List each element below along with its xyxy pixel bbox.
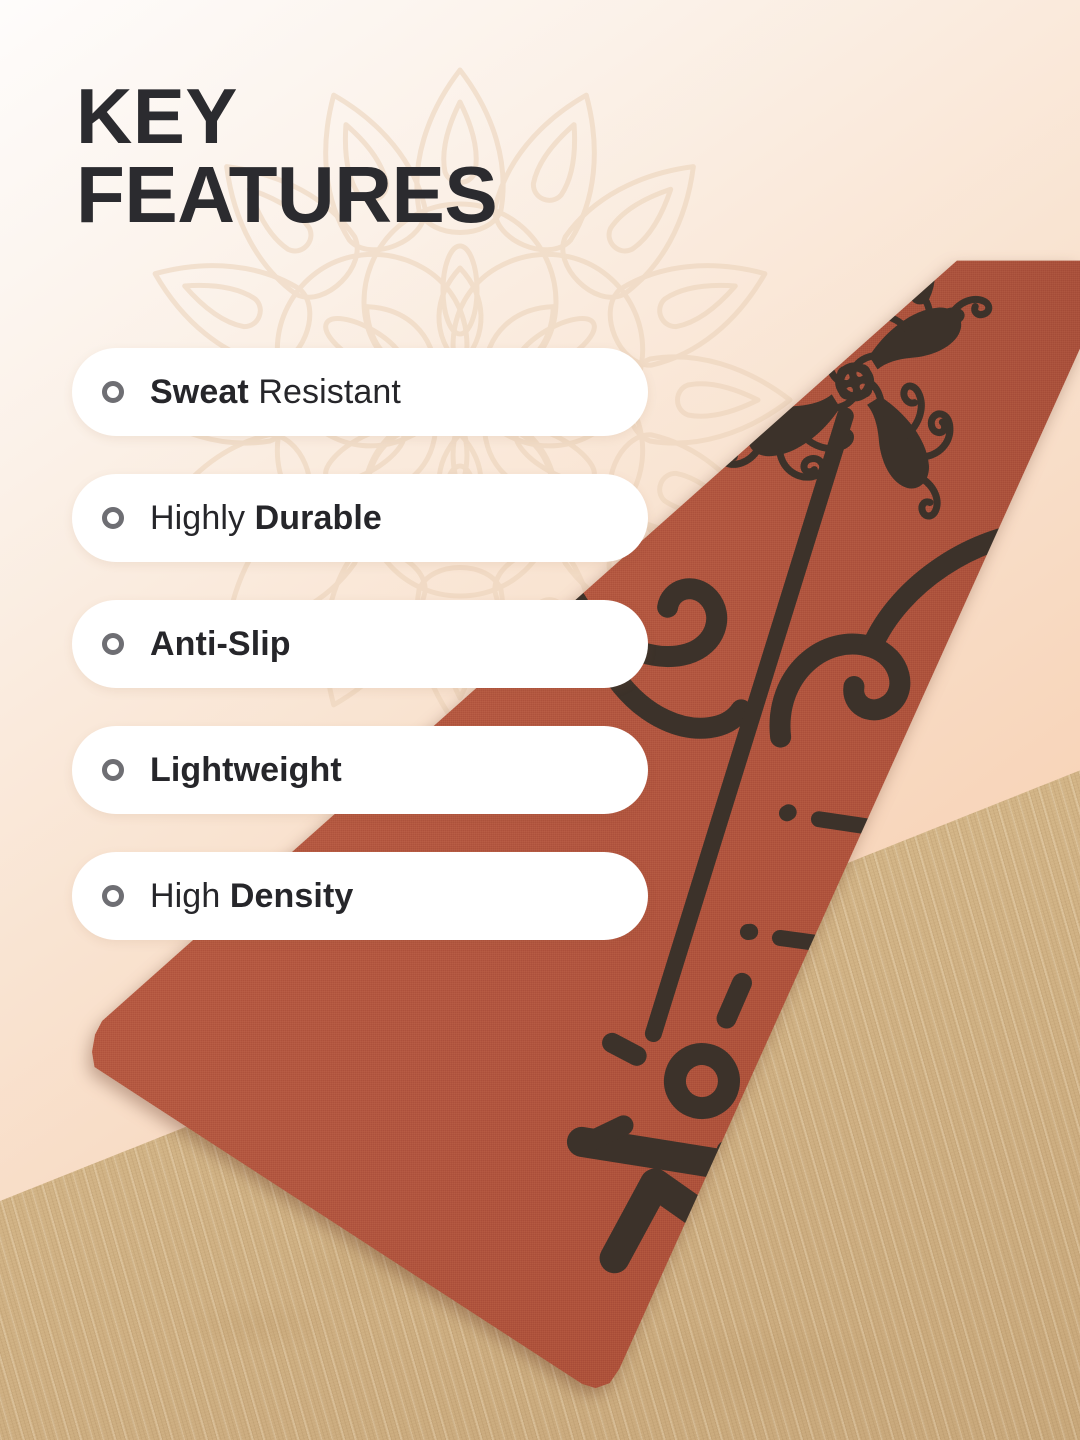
feature-label-5: High Density <box>150 879 353 913</box>
feature-pill-high-density[interactable]: High Density <box>72 852 648 940</box>
feature-label-2-bold: Durable <box>255 499 382 537</box>
title-line-1: KEY <box>76 78 497 155</box>
feature-label-1: Sweat Resistant <box>150 375 401 409</box>
feature-label-2-regular: Highly <box>150 499 245 537</box>
feature-label-1-bold: Sweat <box>150 373 249 411</box>
feature-pill-sweat-resistant[interactable]: Sweat Resistant <box>72 348 648 436</box>
feature-label-3-bold: Anti-Slip <box>150 625 291 663</box>
feature-label-1-regular: Resistant <box>258 373 401 411</box>
ring-bullet-icon <box>102 381 124 403</box>
feature-pill-anti-slip[interactable]: Anti-Slip <box>72 600 648 688</box>
page-title: KEY FEATURES <box>76 78 497 234</box>
feature-label-4: Lightweight <box>150 753 342 787</box>
feature-pill-highly-durable[interactable]: Highly Durable <box>72 474 648 562</box>
ring-bullet-icon <box>102 759 124 781</box>
feature-label-5-regular: High <box>150 877 220 915</box>
feature-label-2: Highly Durable <box>150 501 382 535</box>
ring-bullet-icon <box>102 885 124 907</box>
feature-label-5-bold: Density <box>230 877 354 915</box>
feature-label-3: Anti-Slip <box>150 627 291 661</box>
feature-pill-lightweight[interactable]: Lightweight <box>72 726 648 814</box>
ring-bullet-icon <box>102 507 124 529</box>
title-line-2: FEATURES <box>76 155 497 234</box>
ring-bullet-icon <box>102 633 124 655</box>
feature-list: Sweat Resistant Highly Durable Anti-Slip… <box>72 348 648 940</box>
feature-label-4-bold: Lightweight <box>150 751 342 789</box>
product-feature-graphic: KEY FEATURES Sweat Resistant Highly Dura… <box>0 0 1080 1440</box>
